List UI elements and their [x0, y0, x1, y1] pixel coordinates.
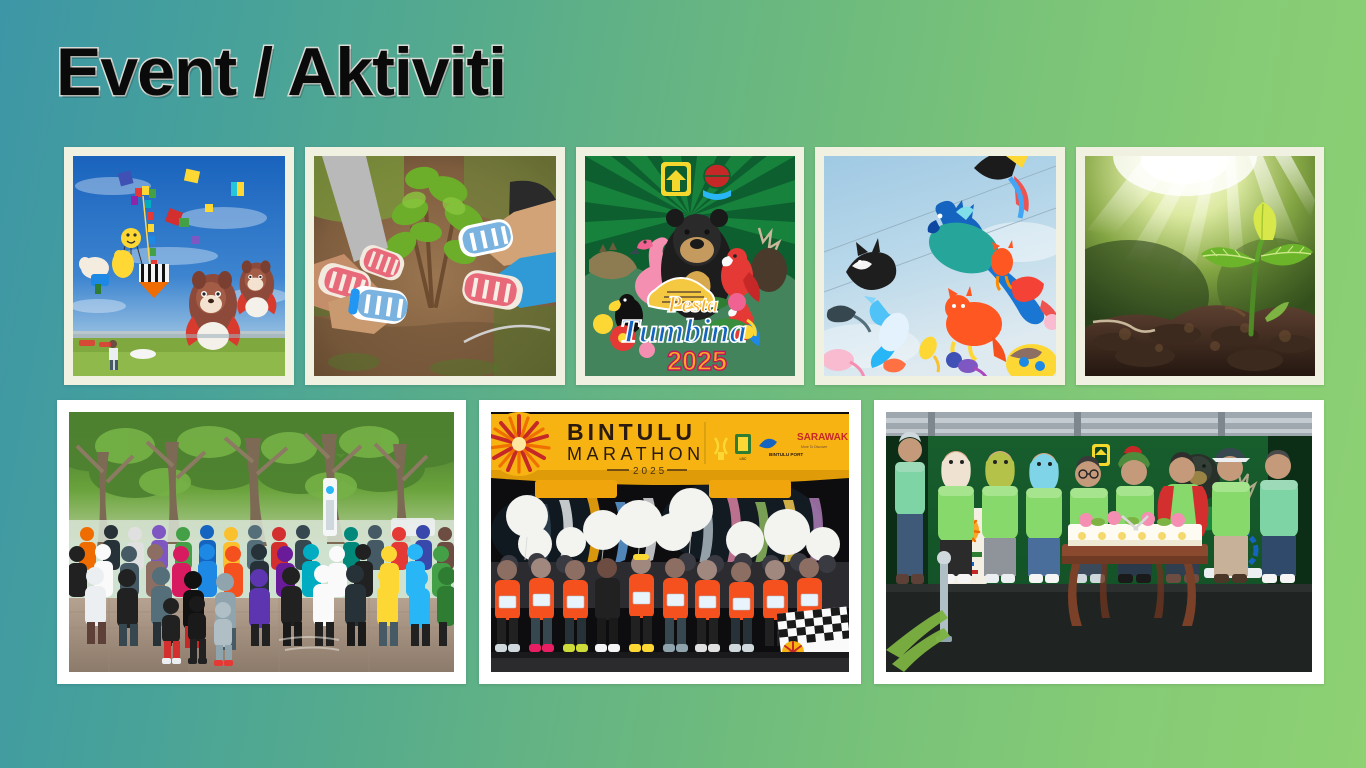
gallery-row-top: Pesta Tumbina 2025: [64, 147, 1324, 385]
photo-frame-bintulu-marathon[interactable]: BINTULU MARATHON 2025 LBC BI: [479, 400, 861, 684]
image-community-group-photo-park: [69, 412, 454, 672]
marathon-banner-line2: MARATHON: [567, 444, 705, 464]
marathon-banner-year: 2025: [633, 466, 667, 477]
photo-frame-tree-planting-hands[interactable]: [305, 147, 565, 385]
photo-frame-cake-cutting-ceremony[interactable]: O: [874, 400, 1324, 684]
poster-title-line2: Tumbina: [619, 313, 746, 350]
poster-year: 2025: [667, 346, 727, 376]
photo-frame-kites-in-sky[interactable]: [815, 147, 1065, 385]
image-pesta-tumbina-2025-poster: Pesta Tumbina 2025: [585, 156, 795, 376]
photo-frame-pesta-tumbina-poster[interactable]: Pesta Tumbina 2025: [576, 147, 804, 385]
image-cake-cutting-ceremony: O: [886, 412, 1312, 672]
svg-text:LBC: LBC: [740, 457, 747, 461]
marathon-banner-line1: BINTULU: [567, 419, 696, 445]
sponsor-bintulu-port: BINTULU PORT: [769, 452, 803, 457]
page-title: Event / Aktiviti: [56, 38, 506, 106]
gallery-row-bottom: BINTULU MARATHON 2025 LBC BI: [57, 400, 1324, 684]
image-seedling-in-soil: [1085, 156, 1315, 376]
image-kites-in-sky: [824, 156, 1056, 376]
photo-frame-seedling-in-soil[interactable]: [1076, 147, 1324, 385]
image-kite-festival-field: [73, 156, 285, 376]
sponsor-sarawak: SARAWAK: [797, 432, 849, 443]
photo-frame-kite-festival-field[interactable]: [64, 147, 294, 385]
photo-frame-community-group-photo[interactable]: [57, 400, 466, 684]
image-tree-planting-hands: [314, 156, 556, 376]
svg-text:More To Discover: More To Discover: [801, 445, 828, 449]
image-bintulu-marathon-2025: BINTULU MARATHON 2025 LBC BI: [491, 412, 849, 672]
